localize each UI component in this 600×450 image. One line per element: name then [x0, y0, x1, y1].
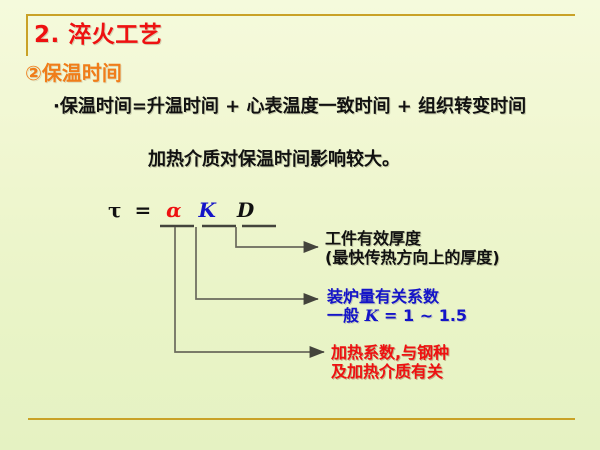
formula-symbol-d: D — [231, 198, 260, 222]
annotation-charge-coefficient-line-1: 装炉量有关系数 — [327, 287, 439, 306]
body-text-line-1: ·保温时间=升温时间 + 心表温度一致时间 + 组织转变时间 — [53, 92, 526, 118]
annotation-heating-coefficient: 加热系数,与钢种 及加热介质有关 — [331, 344, 449, 382]
formula-symbol-alpha: α — [164, 198, 183, 222]
annotation-charge-coefficient-line-2: 一般 K = 1 ~ 1.5 — [327, 307, 467, 326]
annotation-charge-coefficient: 装炉量有关系数 一般 K = 1 ~ 1.5 — [327, 288, 467, 326]
annotation-heating-coefficient-line-1: 加热系数,与钢种 — [331, 343, 449, 362]
formula-equals-sign: = — [128, 198, 157, 222]
formula-symbol-k: K — [191, 198, 224, 222]
annotation-heating-coefficient-line-2: 及加热介质有关 — [331, 363, 449, 382]
annotation-thickness: 工件有效厚度 (最快传热方向上的厚度) — [325, 230, 500, 268]
annotation-k-symbol: K — [365, 306, 379, 325]
annotation-thickness-line-2: (最快传热方向上的厚度) — [325, 249, 500, 268]
body-text-line-2: 加热介质对保温时间影响较大。 — [148, 145, 400, 171]
formula-symbol-tau: τ — [108, 198, 121, 222]
leader-line-k — [196, 227, 318, 299]
annotation-k-prefix: 一般 — [327, 306, 365, 325]
leader-line-alpha — [175, 227, 324, 352]
annotation-thickness-line-1: 工件有效厚度 — [325, 229, 421, 248]
slide-canvas: 2. 淬火工艺 ②保温时间 ·保温时间=升温时间 + 心表温度一致时间 + 组织… — [0, 0, 600, 450]
leader-line-d — [236, 227, 318, 247]
title-frame-left-rule — [26, 14, 28, 56]
formula-expression: τ = α K D — [108, 198, 260, 222]
annotation-k-range: = 1 ~ 1.5 — [378, 306, 467, 325]
slide-title: 2. 淬火工艺 — [34, 15, 162, 49]
footer-divider-rule — [28, 418, 575, 420]
slide-subtitle: ②保温时间 — [25, 57, 122, 86]
